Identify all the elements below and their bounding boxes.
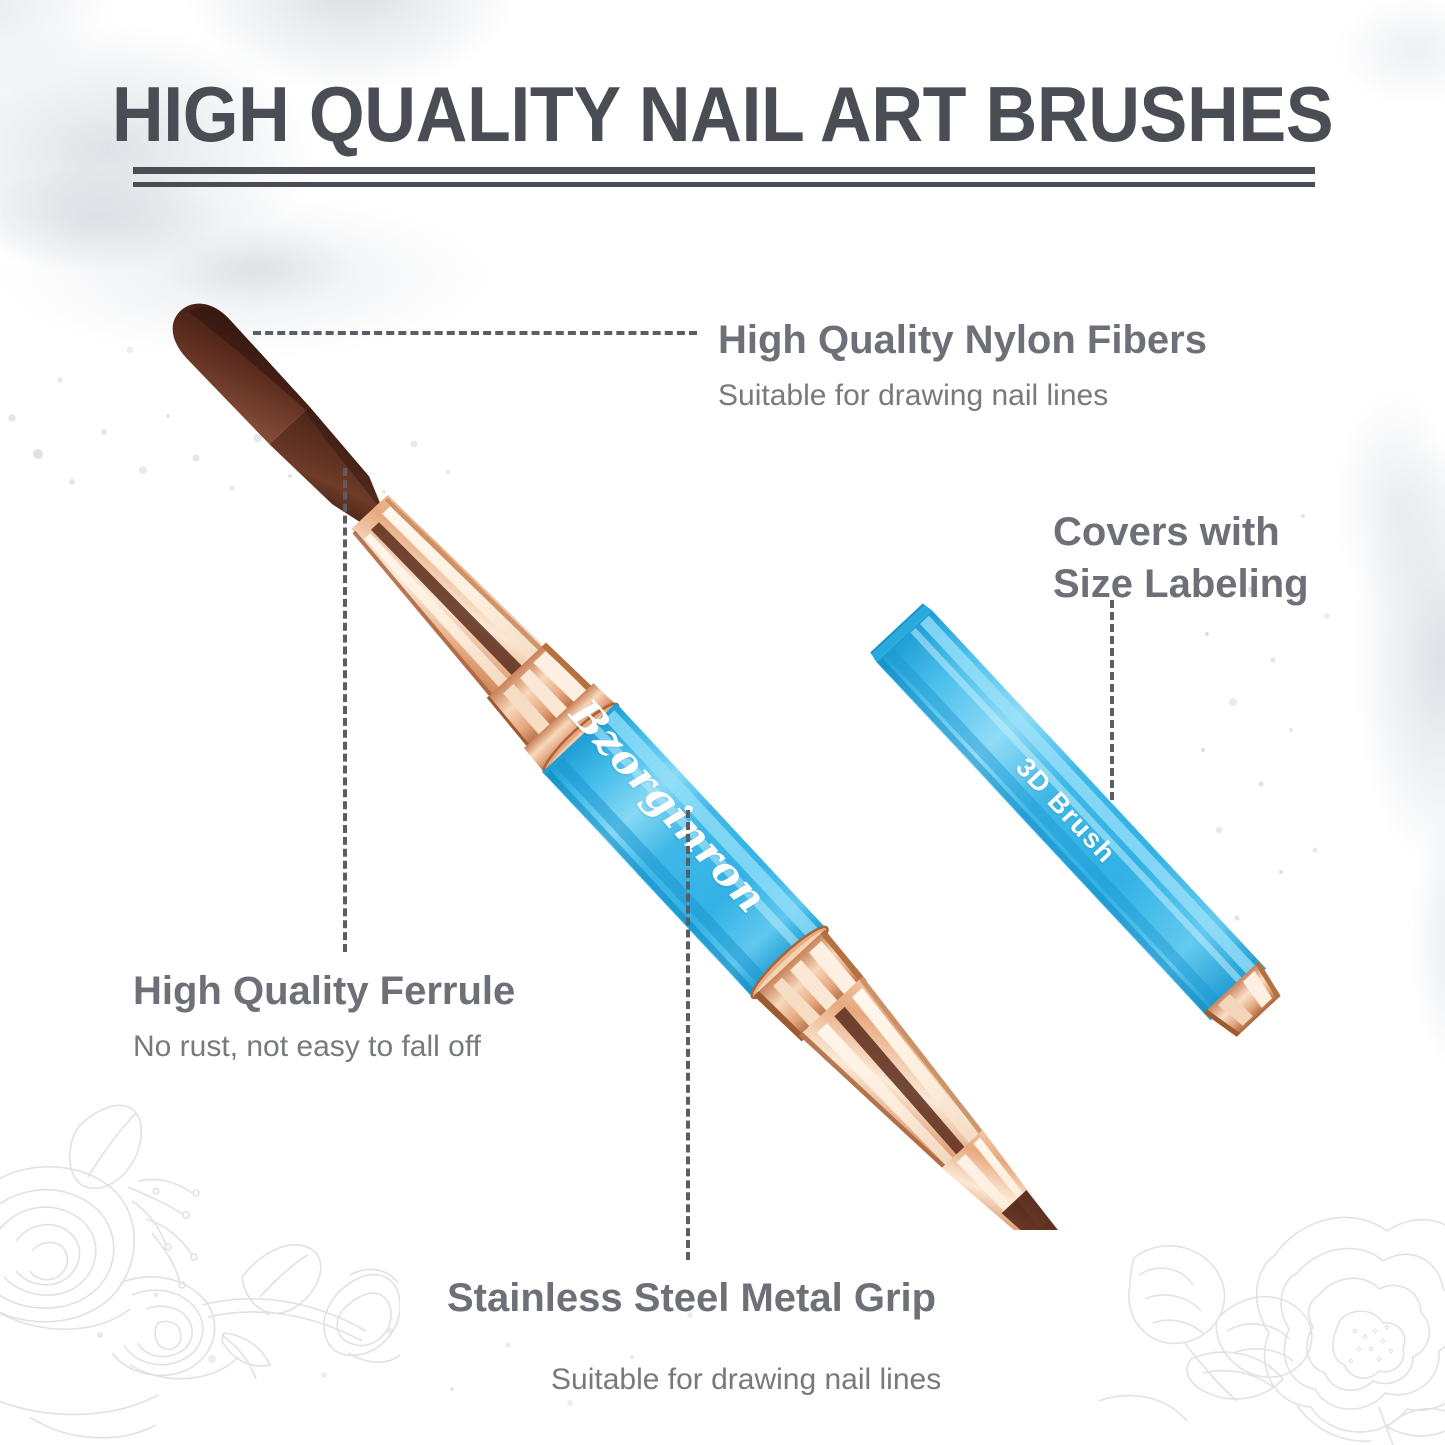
watercolor-wash-right-edge	[1215, 330, 1445, 1110]
rose-line-art-bottom-left	[0, 1065, 400, 1445]
leader-line-ferrule	[343, 468, 347, 952]
brush-cover-illustration	[860, 600, 1380, 1060]
leader-line-metal-grip	[686, 810, 690, 1260]
watercolor-wash-top-left-secondary	[0, 130, 430, 350]
callout-title-nylon-fibers: High Quality Nylon Fibers	[718, 317, 1207, 363]
callout-title-metal-grip: Stainless Steel Metal Grip	[447, 1275, 936, 1321]
callout-subtitle-ferrule: No rust, not easy to fall off	[133, 1029, 481, 1065]
brand-label: Bzorginron	[560, 690, 776, 923]
infographic-page: HIGH QUALITY NAIL ART BRUSHES	[0, 0, 1445, 1445]
title-rule-bottom	[133, 182, 1315, 187]
callout-subtitle-nylon-fibers: Suitable for drawing nail lines	[718, 378, 1108, 414]
peony-line-art-bottom-right	[1035, 1075, 1445, 1445]
page-title: HIGH QUALITY NAIL ART BRUSHES	[58, 72, 1387, 156]
leader-line-nylon-fibers	[253, 331, 697, 335]
callout-title-ferrule: High Quality Ferrule	[133, 968, 515, 1014]
leader-line-covers	[1110, 600, 1114, 800]
watercolor-wash-top-left	[0, 0, 640, 420]
callout-subtitle-metal-grip: Suitable for drawing nail lines	[551, 1362, 941, 1398]
callout-title-covers: Covers with Size Labeling	[1053, 506, 1343, 610]
title-rule-top	[133, 167, 1315, 174]
nail-art-brush-illustration	[150, 290, 1160, 1230]
speckle-texture-top-left	[0, 170, 560, 510]
cap-size-label: 3D Brush	[1009, 752, 1122, 870]
